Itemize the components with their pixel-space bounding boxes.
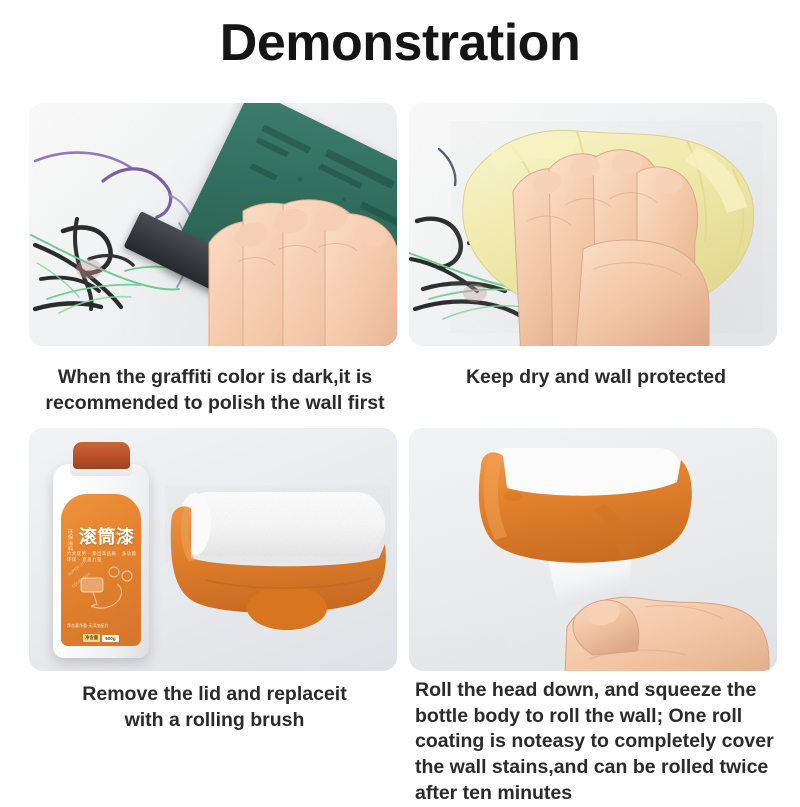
page-title: Demonstration bbox=[0, 14, 800, 74]
roller-brush-head bbox=[165, 484, 391, 634]
bottle-cap bbox=[73, 442, 130, 469]
panel-wiping bbox=[409, 103, 777, 346]
label-vertical-text: 环保涂料 bbox=[66, 529, 72, 551]
bottle-label: 环保涂料 滚筒漆 六大优势 · 涂出高品质 · 多功能环保 · 遮盖力强 SUP… bbox=[61, 494, 141, 646]
caption-line: the wall stains,and can be rolled twice bbox=[415, 755, 787, 781]
label-weight: 净含量 500g bbox=[83, 634, 119, 642]
hand bbox=[559, 573, 771, 671]
caption-line: When the graffiti color is dark,it is bbox=[20, 365, 410, 391]
caption-line: with a rolling brush bbox=[22, 708, 407, 734]
paint-bottle: 环保涂料 滚筒漆 六大优势 · 涂出高品质 · 多功能环保 · 遮盖力强 SUP… bbox=[53, 442, 149, 658]
caption-step-1: When the graffiti color is dark,it is re… bbox=[20, 365, 410, 416]
caption-step-3: Remove the lid and replaceit with a roll… bbox=[22, 682, 407, 733]
weight-tag: 净含量 bbox=[83, 634, 100, 642]
caption-line: bottle body to roll the wall; One roll bbox=[415, 704, 787, 730]
caption-line: after ten minutes bbox=[415, 781, 787, 807]
hand bbox=[199, 165, 397, 346]
caption-line: Remove the lid and replaceit bbox=[22, 682, 407, 708]
demonstration-page: Demonstration bbox=[0, 0, 800, 800]
caption-line: recommended to polish the wall first bbox=[20, 391, 410, 417]
label-illustration: SUPER STRONG COVERAGE bbox=[67, 562, 137, 620]
hand bbox=[497, 129, 727, 346]
caption-line: Roll the head down, and squeeze the bbox=[415, 678, 787, 704]
panel-sanding bbox=[29, 103, 397, 346]
label-title: 滚筒漆 bbox=[79, 528, 135, 546]
caption-step-4: Roll the head down, and squeeze the bott… bbox=[415, 678, 787, 807]
panel-rolling-wall bbox=[409, 428, 777, 671]
panel-bottle-roller: 环保涂料 滚筒漆 六大优势 · 涂出高品质 · 多功能环保 · 遮盖力强 SUP… bbox=[29, 428, 397, 671]
caption-line: coating is noteasy to completely cover bbox=[415, 729, 787, 755]
weight-value: 500g bbox=[102, 635, 118, 642]
caption-step-2: Keep dry and wall protected bbox=[405, 365, 787, 391]
label-footer-text: 净含量净重·无添加配方 bbox=[67, 623, 137, 629]
caption-line: Keep dry and wall protected bbox=[405, 365, 787, 391]
